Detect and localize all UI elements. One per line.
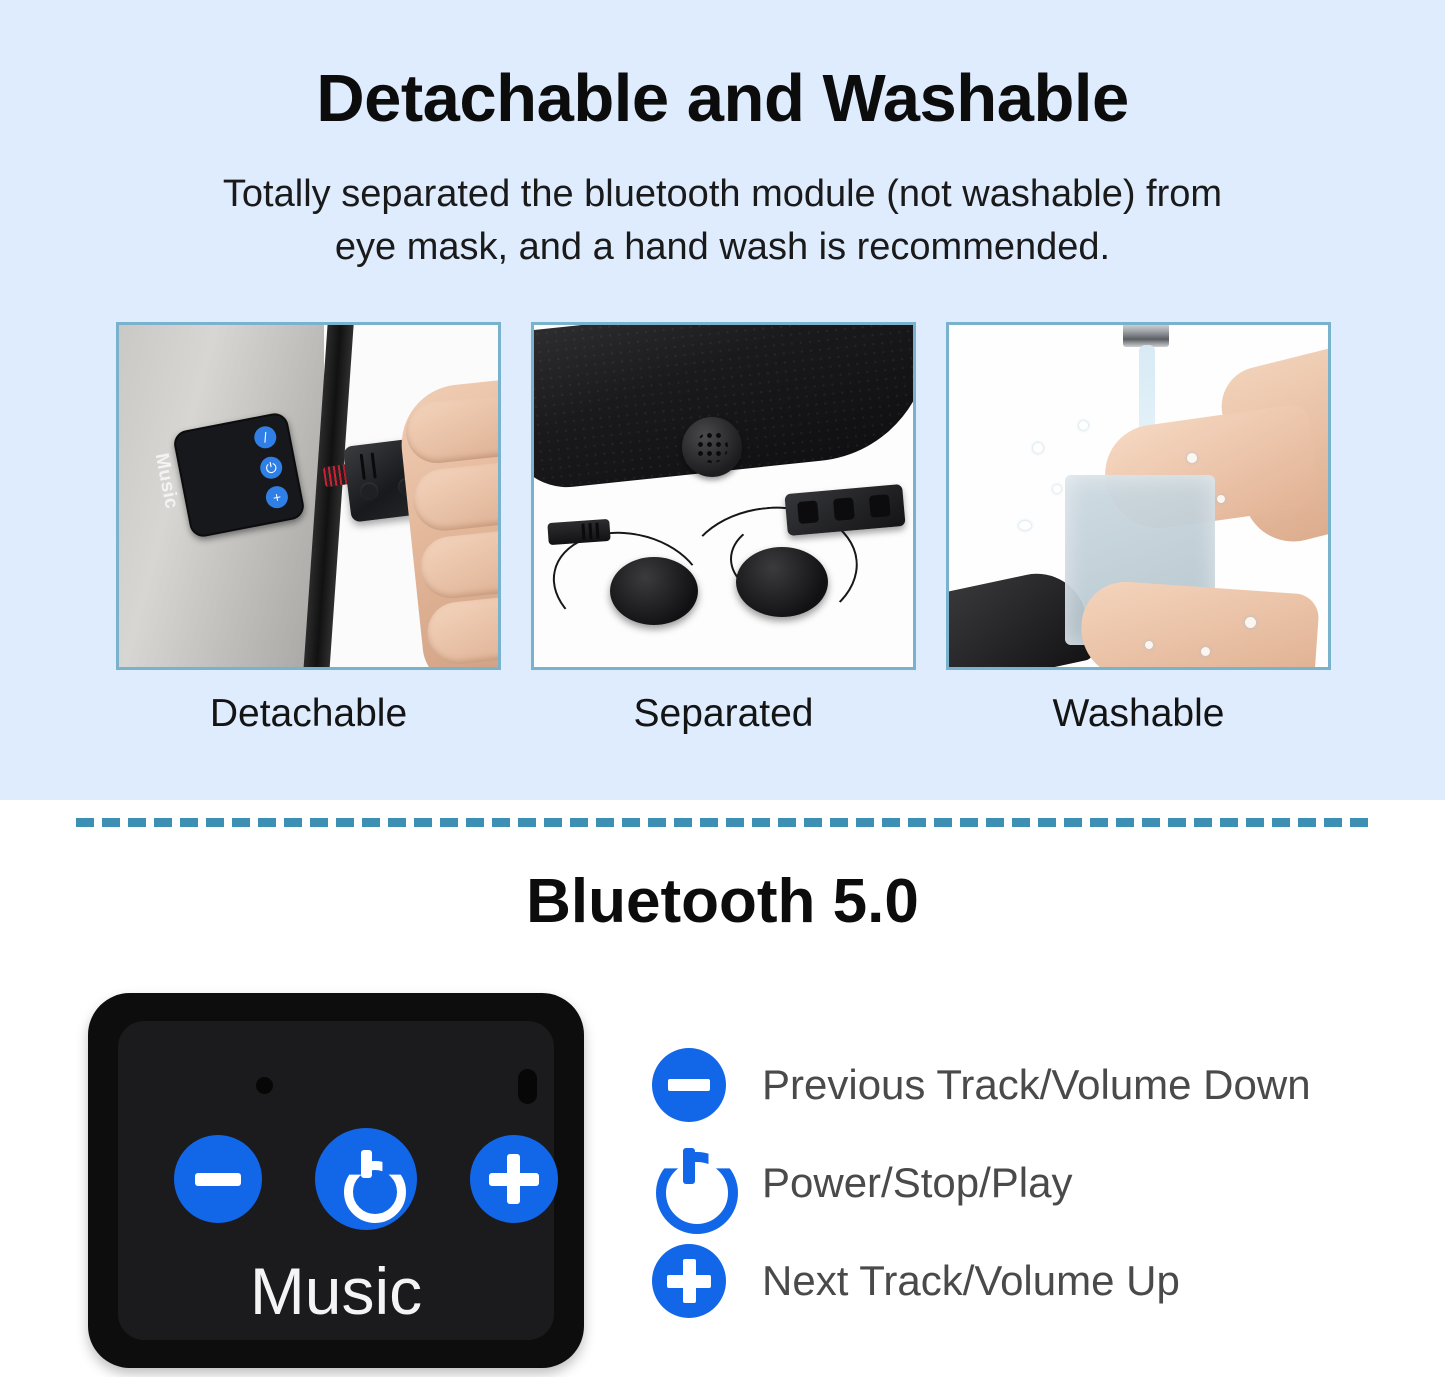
- panel-caption-group: Detachable Separated Washable: [116, 692, 1331, 736]
- power-icon: [650, 1144, 728, 1222]
- subtitle-line-2: eye mask, and a hand wash is recommended…: [335, 226, 1110, 268]
- faucet-icon: [1123, 325, 1169, 347]
- plus-icon[interactable]: [470, 1135, 558, 1223]
- section-divider: [76, 818, 1371, 827]
- microphone-slot-icon: [518, 1069, 537, 1104]
- photo-separated: [534, 325, 913, 667]
- photo-panel-group: Music / ⏻ +: [116, 322, 1331, 670]
- legend-row-previous: Previous Track/Volume Down: [650, 1036, 1410, 1134]
- hand-lower: [1078, 579, 1320, 667]
- pad-power-icon: ⏻: [258, 455, 284, 481]
- page-title: Detachable and Washable: [0, 60, 1445, 137]
- earpiece-right: [736, 547, 828, 617]
- legend-label-next: Next Track/Volume Up: [762, 1257, 1180, 1305]
- led-indicator-icon: [256, 1077, 273, 1094]
- detachable-washable-section: Detachable and Washable Totally separate…: [0, 0, 1445, 800]
- photo-washable: [949, 325, 1328, 667]
- module-music-label: Music: [118, 1253, 554, 1329]
- plus-icon: [650, 1242, 728, 1320]
- photo-panel-separated: [531, 322, 916, 670]
- bluetooth-heading: Bluetooth 5.0: [0, 866, 1445, 937]
- legend-row-power: Power/Stop/Play: [650, 1134, 1410, 1232]
- speaker-grille: [682, 417, 742, 477]
- caption-separated: Separated: [531, 692, 916, 736]
- legend-row-next: Next Track/Volume Up: [650, 1232, 1410, 1330]
- power-icon[interactable]: [315, 1128, 417, 1230]
- subtitle-line-1: Totally separated the bluetooth module (…: [223, 173, 1222, 215]
- bluetooth-control-module: Music: [88, 993, 584, 1368]
- infographic-page: Detachable and Washable Totally separate…: [0, 0, 1445, 1377]
- photo-panel-detachable: Music / ⏻ +: [116, 322, 501, 670]
- minus-icon: [650, 1046, 728, 1124]
- caption-washable: Washable: [946, 692, 1331, 736]
- pad-next-icon: +: [264, 484, 290, 510]
- page-subtitle: Totally separated the bluetooth module (…: [160, 168, 1285, 274]
- earpiece-left: [610, 557, 698, 625]
- button-legend: Previous Track/Volume Down Power/Stop/Pl…: [650, 1036, 1410, 1330]
- minus-icon[interactable]: [174, 1135, 262, 1223]
- audio-plug: [547, 519, 610, 545]
- legend-label-power: Power/Stop/Play: [762, 1159, 1073, 1207]
- music-control-pad: Music / ⏻ +: [172, 411, 306, 539]
- module-button-row: [148, 1127, 584, 1231]
- caption-detachable: Detachable: [116, 692, 501, 736]
- photo-panel-washable: [946, 322, 1331, 670]
- module-face: Music: [118, 1021, 554, 1340]
- legend-label-previous: Previous Track/Volume Down: [762, 1061, 1311, 1109]
- pad-prev-icon: /: [252, 424, 278, 450]
- photo-detachable: Music / ⏻ +: [119, 325, 498, 667]
